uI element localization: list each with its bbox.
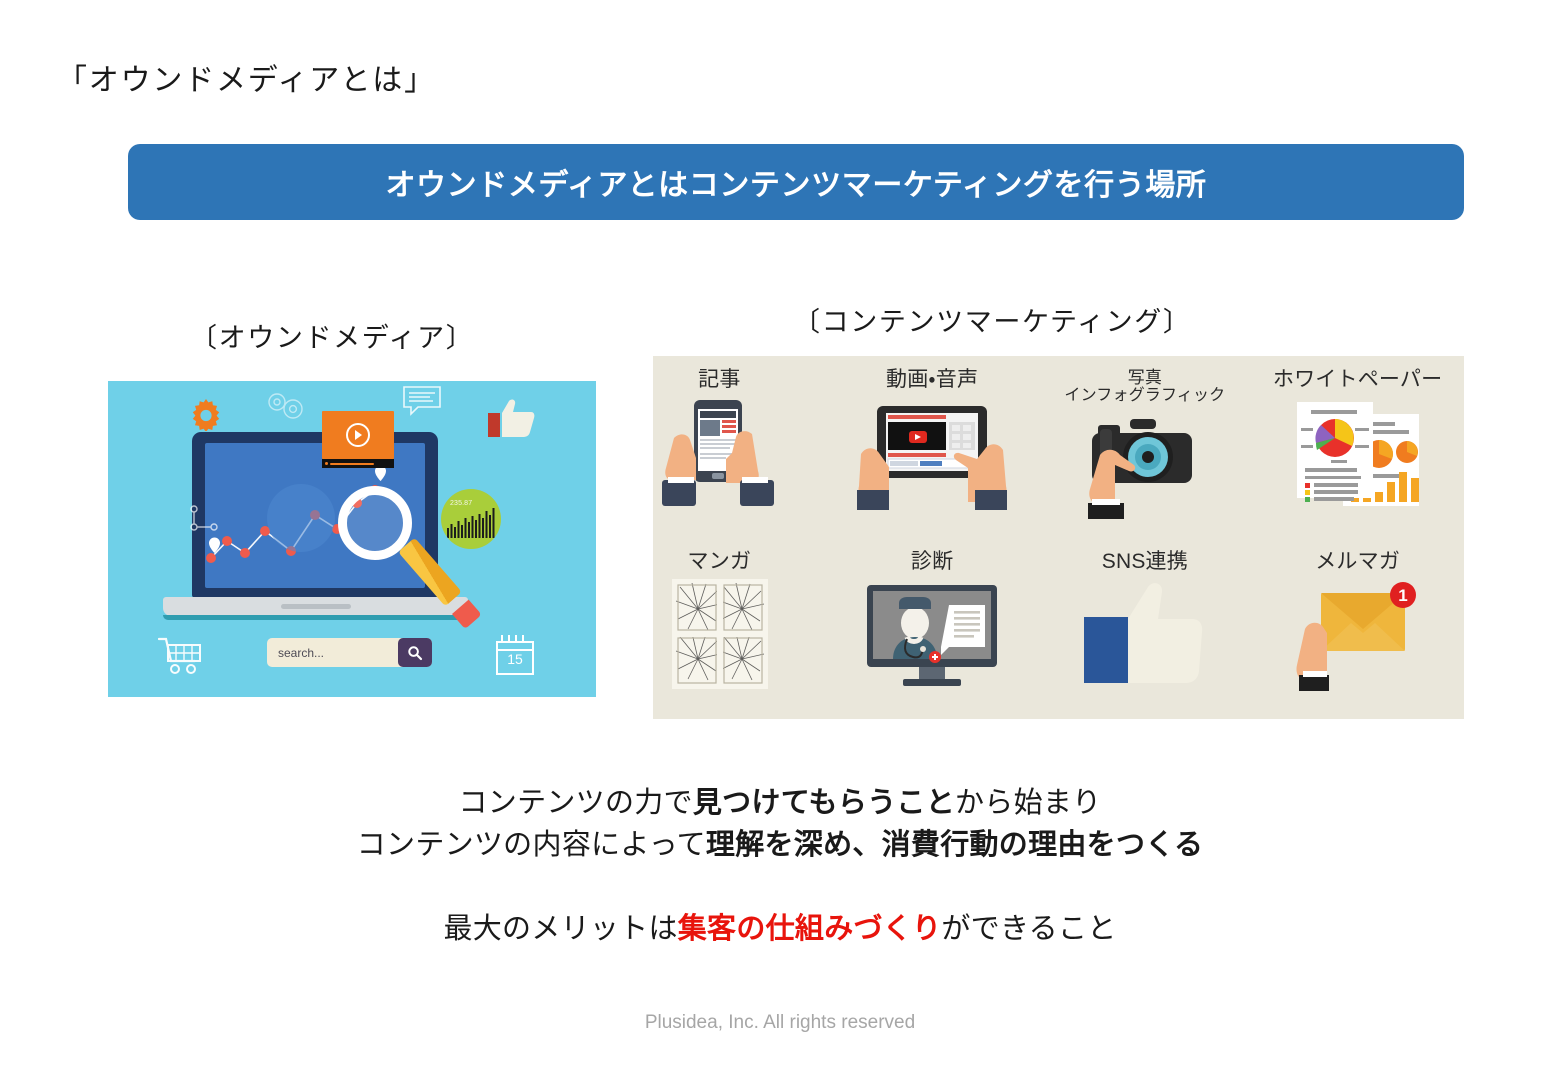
cm-item-newsletter: メルマガ 1: [1251, 538, 1464, 720]
cm-item-diagnosis-label: 診断: [911, 550, 953, 574]
video-thumbnail: [322, 411, 394, 459]
cm-item-manga-label: マンガ: [688, 550, 752, 574]
play-icon: [346, 423, 370, 447]
hands-holding-tablet-video-art: [857, 398, 1007, 510]
copy-line-1-b: から始まり: [955, 787, 1101, 819]
stat-value: 235.87: [450, 500, 472, 507]
copy-line-3-red: 集客の仕組みづくり: [678, 913, 942, 945]
manga-four-panel-art: [644, 579, 794, 691]
copy-line-2: コンテンツの内容によって理解を深め、消費行動の理由をつくる: [357, 829, 1204, 861]
hands-holding-smartphone-article-art: [644, 398, 794, 510]
cm-item-video-audio-label: 動画・音声: [886, 368, 978, 392]
cm-item-infographic-label: インフォグラフィック: [1064, 387, 1225, 405]
stat-circle: 235.87: [441, 489, 501, 549]
laptop-base: [163, 597, 468, 616]
hand-holding-camera-art: [1070, 411, 1220, 523]
search-input[interactable]: search...: [278, 646, 324, 660]
bar-chart-icon: [447, 508, 495, 538]
shopping-cart-icon: [158, 637, 202, 675]
network-node-icon: [190, 505, 218, 531]
copy-line-1: コンテンツの力で見つけてもらうことから始まり: [459, 787, 1102, 819]
cm-item-photo-label: 写真: [1128, 368, 1162, 387]
facebook-thumbs-up-art: [1070, 579, 1220, 691]
copy-line-1-a: コンテンツの力で: [459, 787, 693, 819]
page-title: 「オウンドメディアとは」: [57, 55, 436, 99]
hand-holding-envelope-badge-art: 1: [1283, 579, 1433, 691]
copy-line-1-bold: 見つけてもらうこと: [693, 787, 955, 819]
copy-line-2-a: コンテンツの内容によって: [357, 829, 706, 861]
cm-item-video-audio: 動画・音声: [826, 356, 1039, 538]
copy-line-3-b: ができること: [941, 913, 1116, 945]
cm-item-photo-infographic: 写真 インフォグラフィック: [1039, 356, 1252, 538]
search-bar[interactable]: search...: [267, 638, 432, 667]
thumbs-up-icon: [488, 397, 536, 439]
mail-badge-count: 1: [1398, 586, 1407, 605]
cm-item-newsletter-label: メルマガ: [1315, 550, 1400, 574]
calendar-icon: 15: [496, 634, 534, 676]
cm-item-whitepaper-label: ホワイトペーパー: [1273, 368, 1442, 392]
content-marketing-grid: 記事: [613, 356, 1464, 719]
cm-item-diagnosis: 診断: [826, 538, 1039, 720]
cm-item-photo-infographic-label: 写真 インフォグラフィック: [1064, 368, 1225, 405]
search-icon: [407, 645, 423, 661]
cm-item-manga: マンガ: [613, 538, 826, 720]
cm-item-whitepaper: ホワイトペーパー: [1251, 356, 1464, 538]
monitor-doctor-diagnosis-art: [857, 579, 1007, 691]
cm-item-sns: SNS連携: [1039, 538, 1252, 720]
video-progress-bar: [322, 459, 394, 468]
copy-line-3: 最大のメリットは集客の仕組みづくりができること: [0, 909, 1560, 951]
headline-banner-text: オウンドメディアとはコンテンツマーケティングを行う場所: [385, 160, 1206, 204]
cm-item-article-label: 記事: [698, 368, 740, 392]
comment-bubble-icon: [402, 385, 442, 417]
gear-icon: [190, 399, 222, 431]
headline-banner: オウンドメディアとはコンテンツマーケティングを行う場所: [128, 144, 1464, 220]
report-documents-charts-art: [1283, 398, 1433, 510]
copy-line-2-bold: 理解を深め、消費行動の理由をつくる: [706, 829, 1203, 861]
copy-line-3-a: 最大のメリットは: [443, 913, 677, 945]
owned-media-caption: 〔オウンドメディア〕: [190, 316, 474, 355]
body-copy: コンテンツの力で見つけてもらうことから始まり コンテンツの内容によって理解を深め…: [0, 783, 1560, 950]
footer-copyright: Plusidea, Inc. All rights reserved: [0, 1012, 1560, 1034]
content-marketing-caption: 〔コンテンツマーケティング〕: [793, 300, 1192, 339]
cm-item-article: 記事: [613, 356, 826, 538]
cm-item-sns-label: SNS連携: [1102, 550, 1188, 574]
search-button[interactable]: [398, 638, 432, 667]
laptop-base-shadow: [163, 615, 468, 620]
gear-outline-icon: [265, 392, 305, 420]
calendar-day: 15: [496, 651, 534, 667]
